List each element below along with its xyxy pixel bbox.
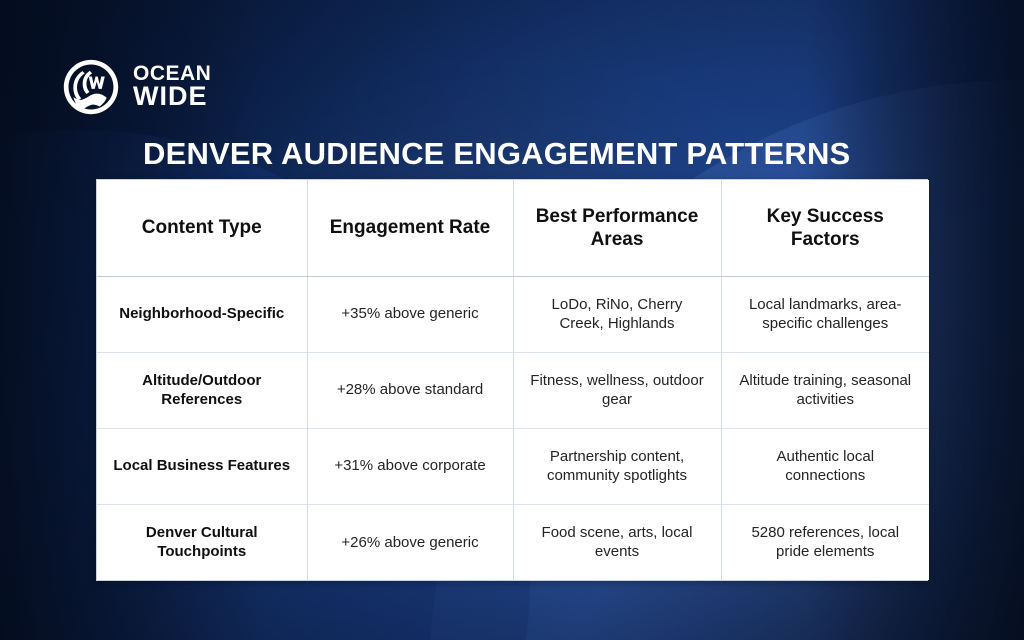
cell-best-performance-areas: Food scene, arts, local events xyxy=(513,504,721,580)
cell-content-type: Neighborhood-Specific xyxy=(97,276,307,352)
cell-engagement-rate: +28% above standard xyxy=(307,352,513,428)
cell-key-success-factors: 5280 references, local pride elements xyxy=(721,504,929,580)
brand-wordmark: OCEAN WIDE xyxy=(133,64,211,109)
column-header-key-success-factors: Key Success Factors xyxy=(721,180,929,276)
page-title: DENVER AUDIENCE ENGAGEMENT PATTERNS xyxy=(143,136,850,172)
table-row: Denver Cultural Touchpoints +26% above g… xyxy=(97,504,929,580)
table-header-row: Content Type Engagement Rate Best Perfor… xyxy=(97,180,929,276)
cell-best-performance-areas: Partnership content, community spotlight… xyxy=(513,428,721,504)
cell-best-performance-areas: Fitness, wellness, outdoor gear xyxy=(513,352,721,428)
column-header-engagement-rate: Engagement Rate xyxy=(307,180,513,276)
cell-content-type: Altitude/Outdoor References xyxy=(97,352,307,428)
column-header-best-performance-areas: Best Performance Areas xyxy=(513,180,721,276)
cell-key-success-factors: Altitude training, seasonal activities xyxy=(721,352,929,428)
cell-content-type: Local Business Features xyxy=(97,428,307,504)
cell-engagement-rate: +31% above corporate xyxy=(307,428,513,504)
cell-content-type: Denver Cultural Touchpoints xyxy=(97,504,307,580)
cell-key-success-factors: Authentic local connections xyxy=(721,428,929,504)
brand-logo: OCEAN WIDE xyxy=(62,58,211,116)
ocean-wave-w-circle-icon xyxy=(62,58,120,116)
table-row: Local Business Features +31% above corpo… xyxy=(97,428,929,504)
cell-engagement-rate: +35% above generic xyxy=(307,276,513,352)
cell-engagement-rate: +26% above generic xyxy=(307,504,513,580)
table-row: Altitude/Outdoor References +28% above s… xyxy=(97,352,929,428)
cell-best-performance-areas: LoDo, RiNo, Cherry Creek, Highlands xyxy=(513,276,721,352)
cell-key-success-factors: Local landmarks, area-specific challenge… xyxy=(721,276,929,352)
table-body: Neighborhood-Specific +35% above generic… xyxy=(97,276,929,580)
table-header: Content Type Engagement Rate Best Perfor… xyxy=(97,180,929,276)
data-table: Content Type Engagement Rate Best Perfor… xyxy=(97,180,929,580)
slide-canvas: OCEAN WIDE DENVER AUDIENCE ENGAGEMENT PA… xyxy=(0,0,1024,640)
table-row: Neighborhood-Specific +35% above generic… xyxy=(97,276,929,352)
engagement-patterns-table: Content Type Engagement Rate Best Perfor… xyxy=(96,179,928,581)
brand-line-2: WIDE xyxy=(133,84,211,109)
column-header-content-type: Content Type xyxy=(97,180,307,276)
